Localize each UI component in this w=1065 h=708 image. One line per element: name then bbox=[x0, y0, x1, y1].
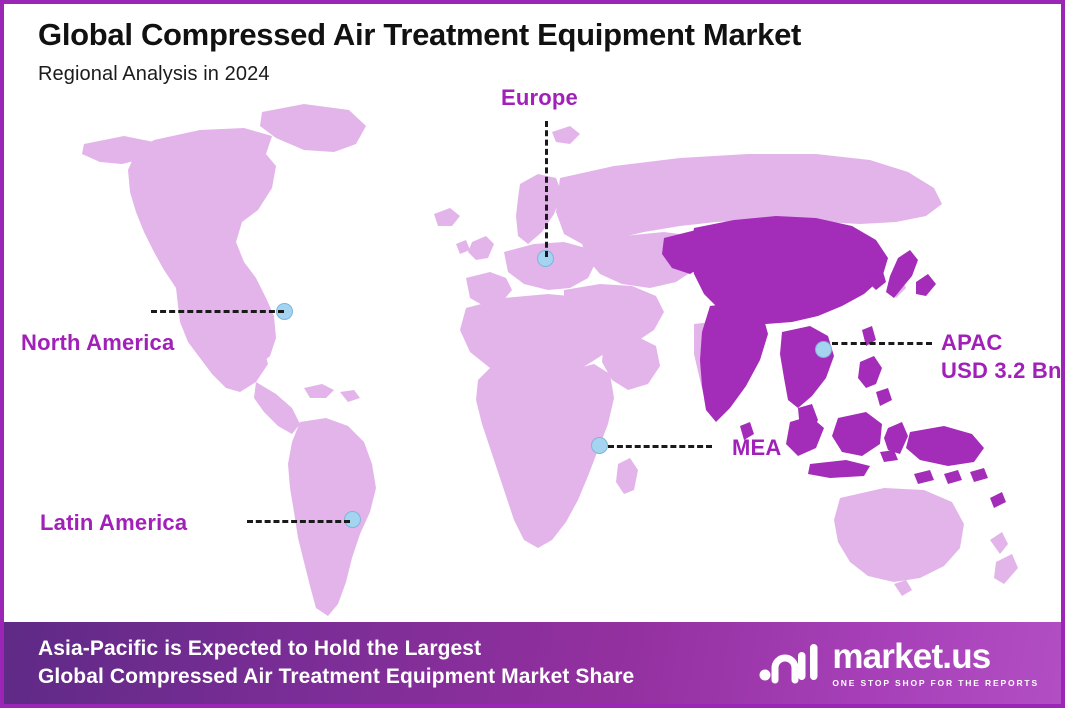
header: Global Compressed Air Treatment Equipmen… bbox=[4, 4, 1061, 86]
marker-dot-mea[interactable] bbox=[591, 437, 608, 454]
region-name-latin-america: Latin America bbox=[40, 510, 187, 535]
footer-headline: Asia-Pacific is Expected to Hold the Lar… bbox=[38, 635, 634, 691]
brand-name: market.us bbox=[832, 639, 990, 674]
region-label-latin-america: Latin America bbox=[40, 509, 187, 537]
footer-line-1: Asia-Pacific is Expected to Hold the Lar… bbox=[38, 635, 634, 663]
region-label-europe: Europe bbox=[501, 84, 578, 112]
region-label-apac: APAC USD 3.2 Bn bbox=[941, 329, 1062, 384]
region-name-apac: APAC bbox=[941, 330, 1003, 355]
region-label-mea: MEA bbox=[732, 434, 782, 462]
page-subtitle: Regional Analysis in 2024 bbox=[38, 63, 1061, 86]
region-name-north-america: North America bbox=[21, 330, 174, 355]
connector-europe bbox=[545, 121, 548, 257]
page-title: Global Compressed Air Treatment Equipmen… bbox=[38, 18, 1061, 52]
region-name-mea: MEA bbox=[732, 435, 782, 460]
world-map-graphic bbox=[4, 92, 1061, 622]
region-value-apac: USD 3.2 Bn bbox=[941, 357, 1062, 385]
brand-tagline: ONE STOP SHOP FOR THE REPORTS bbox=[832, 678, 1039, 688]
market-us-logo-icon bbox=[759, 640, 823, 686]
region-name-europe: Europe bbox=[501, 85, 578, 110]
region-label-north-america: North America bbox=[21, 329, 174, 357]
footer-line-2: Global Compressed Air Treatment Equipmen… bbox=[38, 663, 634, 691]
marker-dot-apac[interactable] bbox=[815, 341, 832, 358]
brand-wordmark: market.us ONE STOP SHOP FOR THE REPORTS bbox=[832, 639, 1039, 688]
footer-banner: Asia-Pacific is Expected to Hold the Lar… bbox=[4, 622, 1061, 704]
infographic-root: Global Compressed Air Treatment Equipmen… bbox=[0, 0, 1065, 708]
world-map-container bbox=[4, 92, 1061, 622]
map-base-regions bbox=[82, 104, 1018, 616]
connector-north-america bbox=[151, 310, 284, 313]
connector-apac bbox=[832, 342, 932, 345]
brand-logo[interactable]: market.us ONE STOP SHOP FOR THE REPORTS bbox=[759, 639, 1047, 688]
connector-mea bbox=[608, 445, 712, 448]
connector-latin-america bbox=[247, 520, 350, 523]
